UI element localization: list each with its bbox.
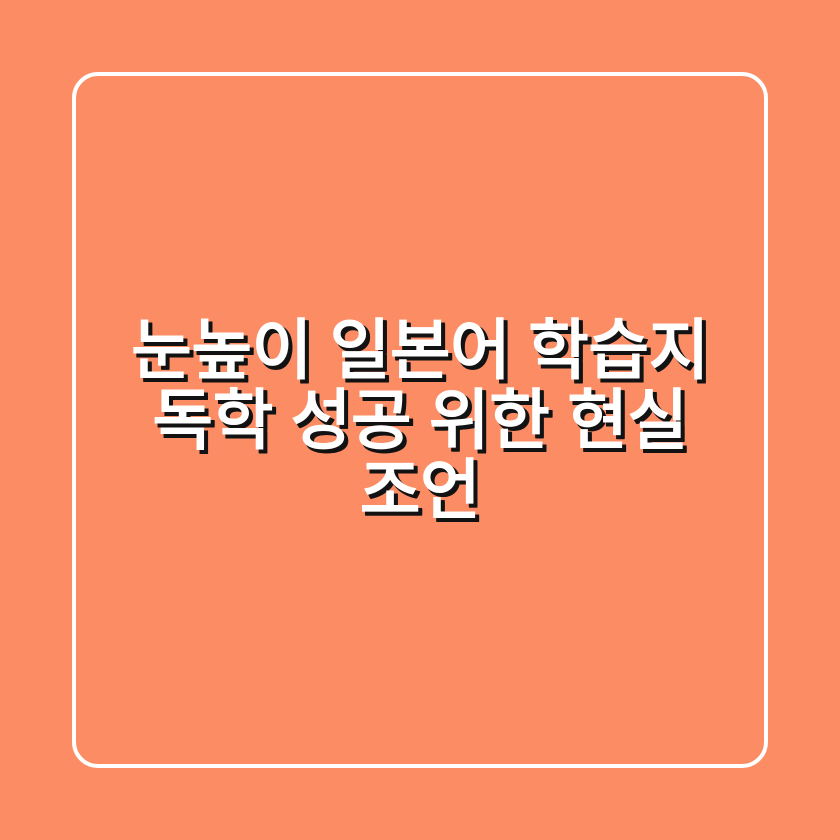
page-title: 눈높이 일본어 학습지 독학 성공 위한 현실 조언 bbox=[0, 0, 840, 840]
title-line-2: 독학 성공 위한 현실 bbox=[96, 385, 744, 455]
thumbnail-card: 눈높이 일본어 학습지 독학 성공 위한 현실 조언 bbox=[0, 0, 840, 840]
title-line-1: 눈높이 일본어 학습지 bbox=[96, 315, 744, 385]
title-line-3: 조언 bbox=[96, 455, 744, 525]
